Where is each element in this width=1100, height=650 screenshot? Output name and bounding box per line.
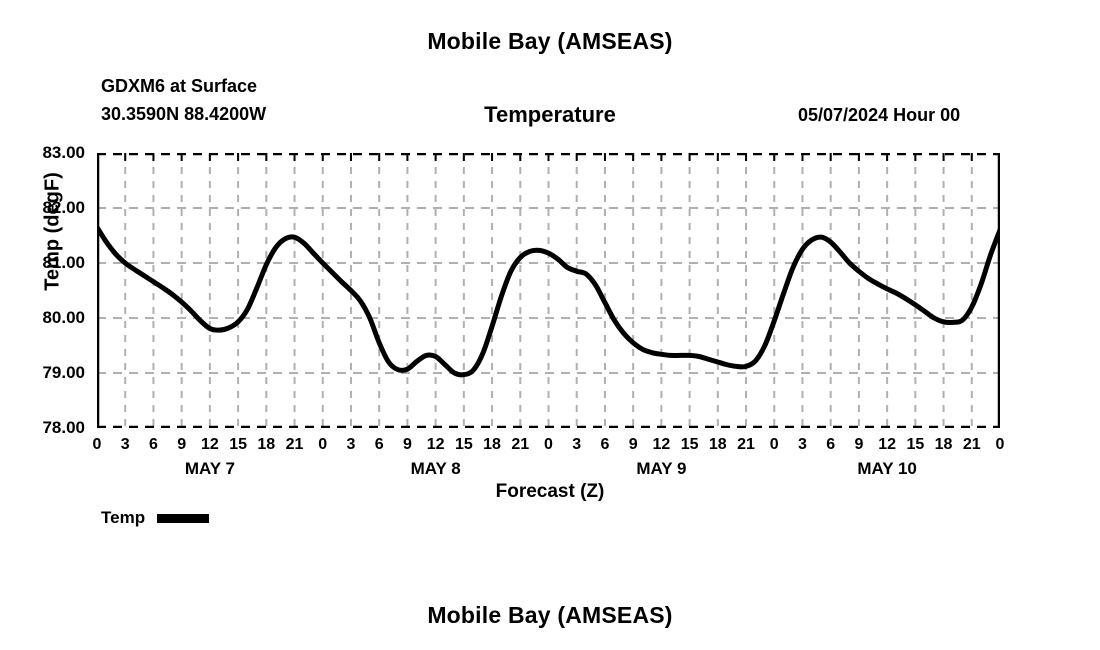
x-tick-label: 0 [308, 436, 338, 454]
legend-color-swatch [157, 514, 209, 523]
x-tick-label: 18 [929, 436, 959, 454]
x-tick-label: 6 [138, 436, 168, 454]
y-tick-label: 79.00 [15, 363, 85, 383]
legend-label: Temp [101, 508, 145, 528]
x-tick-label: 12 [872, 436, 902, 454]
day-label: MAY 10 [807, 459, 967, 479]
x-tick-label: 21 [957, 436, 987, 454]
y-tick-label: 80.00 [15, 308, 85, 328]
y-tick-label: 82.00 [15, 198, 85, 218]
x-tick-label: 9 [392, 436, 422, 454]
x-tick-label: 12 [646, 436, 676, 454]
x-tick-label: 15 [449, 436, 479, 454]
x-tick-label: 9 [844, 436, 874, 454]
station-label: GDXM6 at Surface [101, 76, 257, 97]
x-tick-label: 21 [280, 436, 310, 454]
page-title: Mobile Bay (AMSEAS) [0, 28, 1100, 55]
x-tick-label: 18 [477, 436, 507, 454]
x-tick-label: 6 [816, 436, 846, 454]
model-run-timestamp: 05/07/2024 Hour 00 [798, 105, 960, 126]
x-tick-label: 12 [195, 436, 225, 454]
x-tick-label: 9 [167, 436, 197, 454]
x-tick-label: 0 [82, 436, 112, 454]
day-label: MAY 9 [581, 459, 741, 479]
x-tick-label: 15 [223, 436, 253, 454]
y-tick-label: 78.00 [15, 418, 85, 438]
x-tick-label: 3 [110, 436, 140, 454]
x-tick-label: 15 [900, 436, 930, 454]
chart-page: Mobile Bay (AMSEAS) GDXM6 at Surface 30.… [0, 0, 1100, 650]
x-tick-label: 18 [251, 436, 281, 454]
y-tick-label: 83.00 [15, 143, 85, 163]
x-axis-title: Forecast (Z) [0, 481, 1100, 503]
y-tick-label: 81.00 [15, 253, 85, 273]
day-label: MAY 8 [356, 459, 516, 479]
x-tick-label: 9 [618, 436, 648, 454]
x-tick-label: 3 [562, 436, 592, 454]
x-tick-label: 3 [787, 436, 817, 454]
plot-area [97, 153, 1000, 428]
x-tick-label: 6 [364, 436, 394, 454]
x-tick-label: 3 [336, 436, 366, 454]
x-tick-label: 21 [731, 436, 761, 454]
temperature-line-chart [97, 153, 1000, 428]
day-label: MAY 7 [130, 459, 290, 479]
x-tick-label: 15 [675, 436, 705, 454]
x-tick-label: 0 [759, 436, 789, 454]
x-tick-label: 0 [985, 436, 1015, 454]
x-tick-label: 18 [703, 436, 733, 454]
footer-title: Mobile Bay (AMSEAS) [0, 602, 1100, 629]
x-tick-label: 21 [505, 436, 535, 454]
x-tick-label: 6 [590, 436, 620, 454]
x-tick-label: 12 [421, 436, 451, 454]
legend: Temp [101, 508, 209, 528]
x-tick-label: 0 [534, 436, 564, 454]
